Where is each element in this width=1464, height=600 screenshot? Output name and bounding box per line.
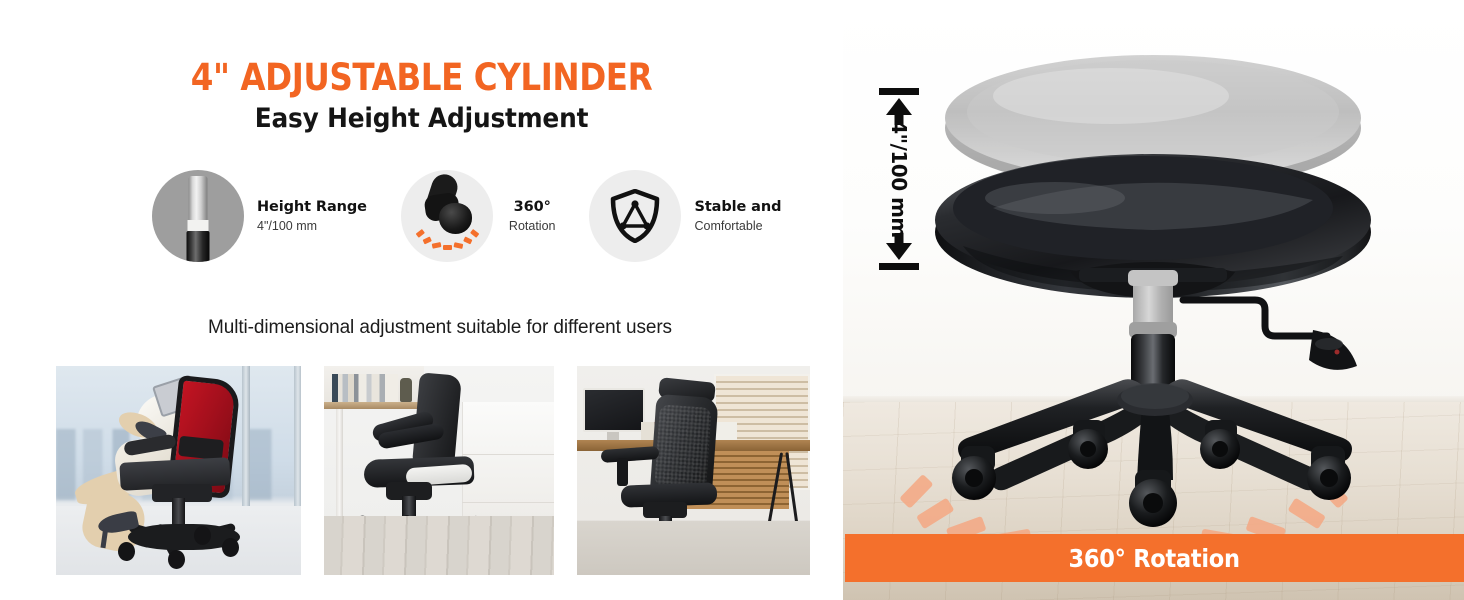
product-photo-1 — [56, 366, 301, 575]
dimension-label: 4"/100 mm — [887, 120, 911, 238]
feature-item-rotation: 360° Rotation — [401, 170, 556, 262]
rotation-arc-icon — [415, 224, 481, 254]
product-photo-2 — [324, 366, 554, 575]
page-subheadline: Easy Height Adjustment — [34, 103, 810, 134]
dimension-cap-bottom — [879, 263, 919, 270]
page-headline: 4" ADJUSTABLE CYLINDER — [51, 56, 793, 99]
feature-text-stability: Stable and Comfortable — [694, 198, 781, 235]
feature-title: 360° — [509, 198, 556, 216]
left-info-panel: 4" ADJUSTABLE CYLINDER Easy Height Adjus… — [0, 0, 843, 600]
caster-rotation-icon — [401, 170, 493, 262]
gas-cylinder-icon — [152, 170, 244, 262]
shield-icon — [610, 189, 660, 243]
feature-item-height-range: Height Range 4"/100 mm — [152, 170, 367, 262]
height-dimension-indicator: 4"/100 mm — [873, 88, 925, 270]
feature-title: Stable and — [694, 198, 781, 216]
stool-product-image — [843, 0, 1464, 600]
feature-subtitle: Comfortable — [694, 219, 781, 235]
feature-title: Height Range — [257, 198, 367, 216]
feature-subtitle: Rotation — [509, 219, 556, 235]
rotation-banner-label: 360° Rotation — [1069, 544, 1240, 573]
section-caption: Multi-dimensional adjustment suitable fo… — [0, 317, 880, 339]
product-photo-strip — [56, 366, 810, 575]
feature-text-height-range: Height Range 4"/100 mm — [257, 198, 367, 235]
feature-item-stability: Stable and Comfortable — [589, 170, 781, 262]
dimension-cap-top — [879, 88, 919, 95]
feature-text-rotation: 360° Rotation — [509, 198, 556, 235]
feature-list: Height Range 4"/100 mm — [152, 168, 792, 264]
arrow-down-icon — [886, 243, 912, 260]
rotation-banner: 360° Rotation — [845, 534, 1464, 582]
right-product-panel: 4"/100 mm 360° Rotation — [843, 0, 1464, 600]
feature-subtitle: 4"/100 mm — [257, 219, 367, 235]
shield-stability-icon — [589, 170, 681, 262]
product-photo-3 — [577, 366, 810, 575]
